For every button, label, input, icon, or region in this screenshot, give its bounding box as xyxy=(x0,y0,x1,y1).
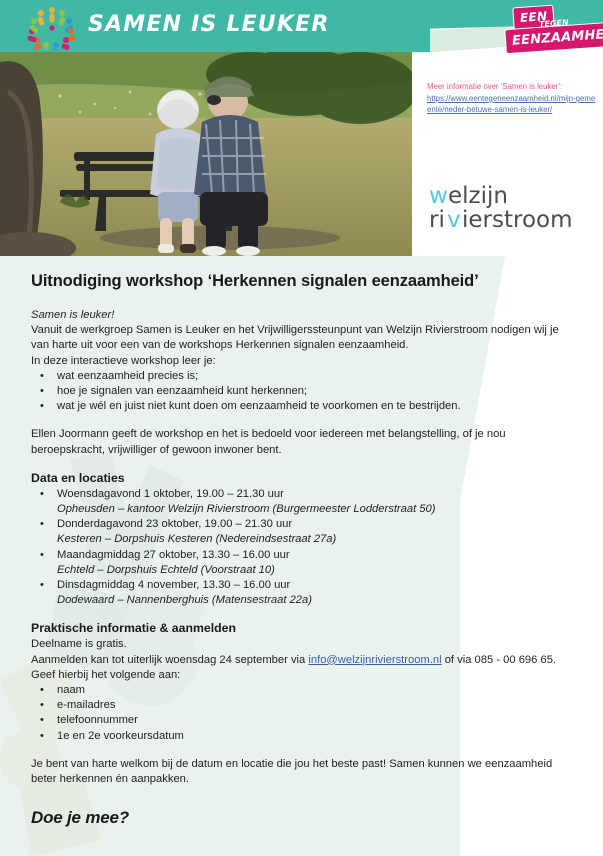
more-info-link[interactable]: https://www.eentegeneenzaamheid.nl/mijn-… xyxy=(427,94,595,114)
trainer-paragraph: Ellen Joormann geeft de workshop en het … xyxy=(31,427,576,457)
date-where: Kesteren – Dorpshuis Kesteren (Nedereind… xyxy=(57,532,576,547)
registration-details-list: naam e-mailadres telefoonnummer 1e en 2e… xyxy=(31,683,576,744)
svg-text:ierstroom: ierstroom xyxy=(462,207,573,233)
register-before: Aanmelden kan tot uiterlijk woensdag 24 … xyxy=(31,654,308,666)
badge-line-3: EENZAAMHEID xyxy=(512,26,603,49)
list-item: telefoonnummer xyxy=(31,713,576,728)
svg-text:v: v xyxy=(447,207,461,233)
learn-lead: In deze interactieve workshop leer je: xyxy=(31,354,576,369)
list-item: 1e en 2e voorkeursdatum xyxy=(31,729,576,744)
campaign-badge: EEN TEGEN EENZAAMHEID xyxy=(505,6,597,48)
svg-text:ri: ri xyxy=(429,207,445,233)
brand-title: SAMEN IS LEUKER xyxy=(88,12,329,37)
practical-heading: Praktische informatie & aanmelden xyxy=(31,621,576,635)
date-when: Maandagmiddag 27 oktober, 13.30 – 16.00 … xyxy=(57,549,290,561)
hero-photo xyxy=(0,52,412,256)
welzijn-rivierstroom-logo-icon: w elzijn ri v ierstroom xyxy=(429,181,601,233)
date-when: Woensdagavond 1 oktober, 19.00 – 21.30 u… xyxy=(57,488,284,500)
svg-text:elzijn: elzijn xyxy=(448,183,508,209)
list-item: Maandagmiddag 27 oktober, 13.30 – 16.00 … xyxy=(31,548,576,578)
main-content: Uitnodiging workshop ‘Herkennen signalen… xyxy=(31,272,576,828)
svg-text:w: w xyxy=(429,183,448,209)
date-when: Donderdagavond 23 oktober, 19.00 – 21.30… xyxy=(57,518,292,530)
registration-email-link[interactable]: info@welzijnrivierstroom.nl xyxy=(308,654,441,666)
list-item: wat eenzaamheid precies is; xyxy=(31,369,576,384)
people-circle-logo-icon xyxy=(24,6,80,50)
list-item: wat je wél en juist niet kunt doen om ee… xyxy=(31,399,576,414)
dates-list: Woensdagavond 1 oktober, 19.00 – 21.30 u… xyxy=(31,487,576,609)
list-item: naam xyxy=(31,683,576,698)
registration-paragraph: Aanmelden kan tot uiterlijk woensdag 24 … xyxy=(31,653,576,683)
page-header: SAMEN IS LEUKER EEN TEGEN EENZAAMHEID xyxy=(0,0,603,58)
more-info-lead: Meer informatie over ‘Samen is leuker’: xyxy=(427,81,597,92)
date-where: Opheusden – kantoor Welzijn Rivierstroom… xyxy=(57,502,576,517)
page-title: Uitnodiging workshop ‘Herkennen signalen… xyxy=(31,272,576,291)
list-item: Donderdagavond 23 oktober, 19.00 – 21.30… xyxy=(31,517,576,547)
dates-heading: Data en locaties xyxy=(31,471,576,485)
intro-paragraph: Vanuit de werkgroep Samen is Leuker en h… xyxy=(31,323,576,353)
call-to-action: Doe je mee? xyxy=(31,808,576,828)
list-item: e-mailadres xyxy=(31,698,576,713)
list-item: Dinsdagmiddag 4 november, 13.30 – 16.00 … xyxy=(31,578,576,608)
more-info-block: Meer informatie over ‘Samen is leuker’: … xyxy=(427,81,597,115)
date-where: Echteld – Dorpshuis Echteld (Voorstraat … xyxy=(57,563,576,578)
date-when: Dinsdagmiddag 4 november, 13.30 – 16.00 … xyxy=(57,579,290,591)
list-item: Woensdagavond 1 oktober, 19.00 – 21.30 u… xyxy=(31,487,576,517)
tagline: Samen is leuker! xyxy=(31,308,576,323)
free-line: Deelname is gratis. xyxy=(31,637,576,652)
list-item: hoe je signalen van eenzaamheid kunt her… xyxy=(31,384,576,399)
closing-paragraph: Je bent van harte welkom bij de datum en… xyxy=(31,757,576,787)
date-where: Dodewaard – Nannenberghuis (Matensestraa… xyxy=(57,593,576,608)
learn-list: wat eenzaamheid precies is; hoe je signa… xyxy=(31,369,576,415)
